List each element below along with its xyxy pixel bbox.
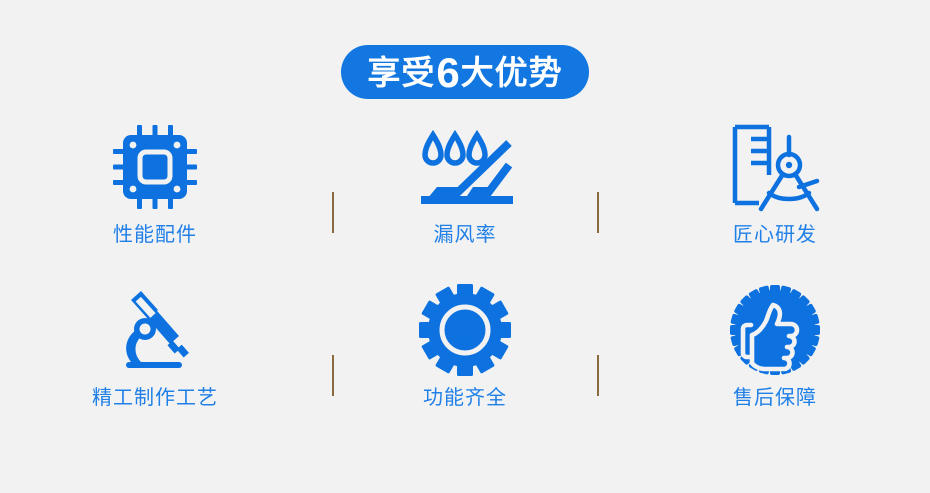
feature-cell-full-function: 功能齐全 <box>310 281 620 444</box>
feature-label: 漏风率 <box>434 225 497 245</box>
badge-number: 6 <box>435 52 460 94</box>
feature-label: 精工制作工艺 <box>92 388 218 408</box>
feature-label: 匠心研发 <box>733 225 817 245</box>
column-divider <box>332 192 334 233</box>
water-drops-leak-icon <box>413 118 517 216</box>
features-row-1: 性能配件 <box>0 118 930 281</box>
feature-cell-craftsmanship: 精工制作工艺 <box>0 281 310 444</box>
column-divider <box>332 355 334 396</box>
feature-label: 售后保障 <box>733 388 817 408</box>
thumbs-up-badge-icon <box>729 281 821 379</box>
header-badge-wrapper: 享受 6 大优势 <box>0 45 930 99</box>
features-row-2: 精工制作工艺 <box>0 281 930 444</box>
feature-cell-rnd: 匠心研发 <box>620 118 930 281</box>
feature-cell-performance-parts: 性能配件 <box>0 118 310 281</box>
feature-cell-after-sales: 售后保障 <box>620 281 930 444</box>
header-badge: 享受 6 大优势 <box>341 45 588 99</box>
column-divider <box>597 355 599 396</box>
ruler-compass-icon <box>727 118 823 216</box>
microscope-icon <box>109 281 201 379</box>
column-divider <box>597 192 599 233</box>
features-grid: 性能配件 <box>0 118 930 444</box>
cpu-chip-icon <box>109 118 201 216</box>
badge-suffix-text: 大优势 <box>461 56 563 89</box>
feature-label: 性能配件 <box>113 225 197 245</box>
gear-icon <box>419 281 511 379</box>
feature-cell-air-leakage: 漏风率 <box>310 118 620 281</box>
promo-features-panel: 享受 6 大优势 <box>0 0 930 493</box>
badge-prefix-text: 享受 <box>367 56 435 89</box>
feature-label: 功能齐全 <box>423 388 507 408</box>
